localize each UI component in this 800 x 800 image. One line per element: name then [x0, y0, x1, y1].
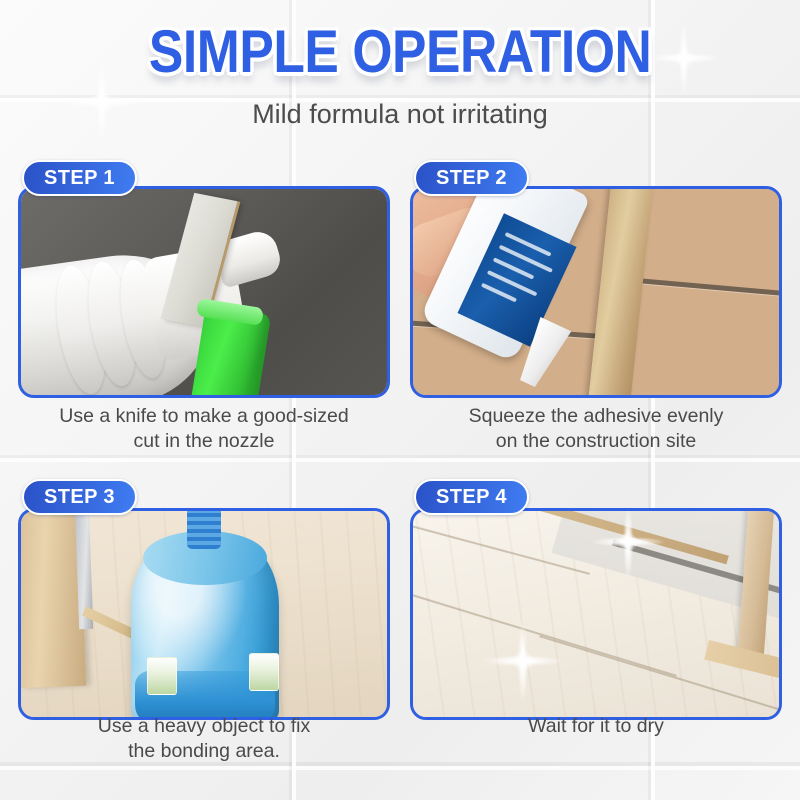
step-caption-3-line1: Use a heavy object to fix: [18, 714, 390, 739]
promo-page: SIMPLE OPERATION Mild formula not irrita…: [0, 0, 800, 800]
step-caption-1: Use a knife to make a good-sized cut in …: [18, 404, 390, 454]
floor-seam-shape: [621, 277, 779, 299]
page-title: SIMPLE OPERATION: [149, 22, 651, 82]
knife-nozzle-illustration: [21, 189, 387, 395]
step-image-3: [21, 511, 387, 717]
step-caption-1-line1: Use a knife to make a good-sized: [18, 404, 390, 429]
step-badge-3: STEP 3: [22, 479, 137, 515]
step-caption-2: Squeeze the adhesive evenly on the const…: [410, 404, 782, 454]
wood-plank-shape: [587, 189, 654, 395]
sparkle-icon: [483, 621, 563, 701]
step-card-4: [410, 508, 782, 720]
floor-plank-line: [413, 587, 677, 677]
step-caption-2-line1: Squeeze the adhesive evenly: [410, 404, 782, 429]
step-card-1: [18, 186, 390, 398]
step-badge-4: STEP 4: [414, 479, 529, 515]
jug-neck-shape: [187, 511, 221, 549]
step-image-2: [413, 189, 779, 395]
step-caption-2-line2: on the construction site: [410, 429, 782, 454]
step-image-4: [413, 511, 779, 717]
step-caption-4-line1: Wait for it to dry: [410, 714, 782, 739]
step-caption-1-line2: cut in the nozzle: [18, 429, 390, 454]
step-card-2: [410, 186, 782, 398]
heavy-object-illustration: [21, 511, 387, 717]
page-title-wrap: SIMPLE OPERATION: [0, 22, 800, 82]
step-badge-1: STEP 1: [22, 160, 137, 196]
step-caption-3-line2: the bonding area.: [18, 739, 390, 764]
step-badge-2: STEP 2: [414, 160, 529, 196]
step-caption-3: Use a heavy object to fix the bonding ar…: [18, 714, 390, 764]
jug-label-shape: [249, 653, 279, 691]
page-subtitle: Mild formula not irritating: [0, 99, 800, 129]
step-image-1: [21, 189, 387, 395]
dry-floor-illustration: [413, 511, 779, 717]
step-caption-4: Wait for it to dry: [410, 714, 782, 739]
step-card-3: [18, 508, 390, 720]
adhesive-application-illustration: [413, 189, 779, 395]
jug-label-shape: [147, 657, 177, 695]
